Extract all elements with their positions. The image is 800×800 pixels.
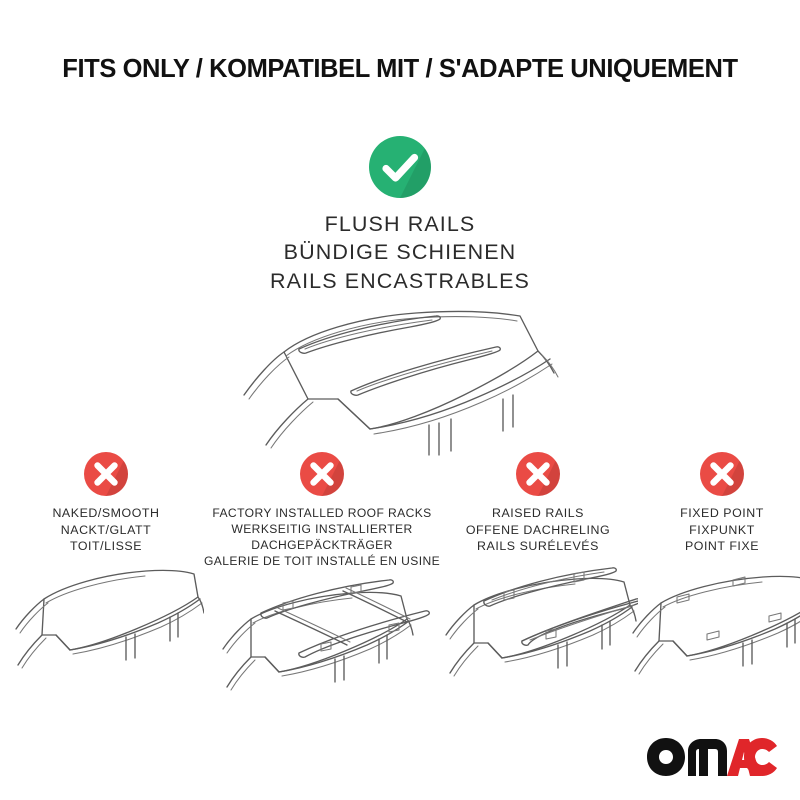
option-label-line: WERKSEITIG INSTALLIERTER	[204, 521, 440, 537]
page-title: FITS ONLY / KOMPATIBEL MIT / S'ADAPTE UN…	[0, 55, 800, 84]
option-label: FIXED POINT FIXPUNKT POINT FIXE	[680, 505, 764, 555]
option-fixed-point: FIXED POINT FIXPUNKT POINT FIXE	[636, 452, 800, 686]
option-label-line: NAKED/SMOOTH	[52, 505, 159, 522]
option-label: NAKED/SMOOTH NACKT/GLATT TOIT/LISSE	[52, 505, 159, 555]
option-label-line: TOIT/LISSE	[52, 538, 159, 555]
option-factory-roof-racks: FACTORY INSTALLED ROOF RACKS WERKSEITIG …	[204, 452, 440, 700]
car-roof-raised-rails-illustration	[438, 561, 638, 686]
compatible-section: FLUSH RAILS BÜNDIGE SCHIENEN RAILS ENCAS…	[0, 136, 800, 478]
option-label-line: FACTORY INSTALLED ROOF RACKS	[204, 505, 440, 521]
option-label: RAISED RAILS OFFENE DACHRELING RAILS SUR…	[466, 505, 610, 555]
infographic-page: FITS ONLY / KOMPATIBEL MIT / S'ADAPTE UN…	[0, 0, 800, 800]
option-label-line: GALERIE DE TOIT INSTALLÉ EN USINE	[204, 553, 440, 569]
option-label-line: OFFENE DACHRELING	[466, 522, 610, 539]
option-label-line: NACKT/GLATT	[52, 522, 159, 539]
option-label: FACTORY INSTALLED ROOF RACKS WERKSEITIG …	[204, 505, 440, 569]
check-circle-icon	[369, 136, 431, 198]
option-label-line: FIXPUNKT	[680, 522, 764, 539]
incompatible-options-row: NAKED/SMOOTH NACKT/GLATT TOIT/LISSE	[0, 452, 800, 700]
option-label-line: FIXED POINT	[680, 505, 764, 522]
option-naked-smooth: NAKED/SMOOTH NACKT/GLATT TOIT/LISSE	[8, 452, 204, 686]
option-label-line: RAILS SURÉLEVÉS	[466, 538, 610, 555]
cross-circle-icon	[300, 452, 344, 496]
cross-circle-icon	[700, 452, 744, 496]
compatible-label-fr: RAILS ENCASTRABLES	[270, 267, 530, 295]
compatible-label-en: FLUSH RAILS	[270, 210, 530, 238]
option-raised-rails: RAISED RAILS OFFENE DACHRELING RAILS SUR…	[440, 452, 636, 686]
compatible-label: FLUSH RAILS BÜNDIGE SCHIENEN RAILS ENCAS…	[270, 210, 530, 295]
option-label-line: POINT FIXE	[680, 538, 764, 555]
car-roof-factory-racks-illustration	[211, 575, 433, 700]
cross-circle-icon	[516, 452, 560, 496]
cross-circle-icon	[84, 452, 128, 496]
option-label-line: DACHGEPÄCKTRÄGER	[204, 537, 440, 553]
omac-logo	[646, 736, 778, 778]
car-roof-fixed-point-illustration	[629, 561, 800, 686]
compatible-label-de: BÜNDIGE SCHIENEN	[270, 238, 530, 266]
option-label-line: RAISED RAILS	[466, 505, 610, 522]
car-roof-naked-smooth-illustration	[8, 561, 204, 686]
